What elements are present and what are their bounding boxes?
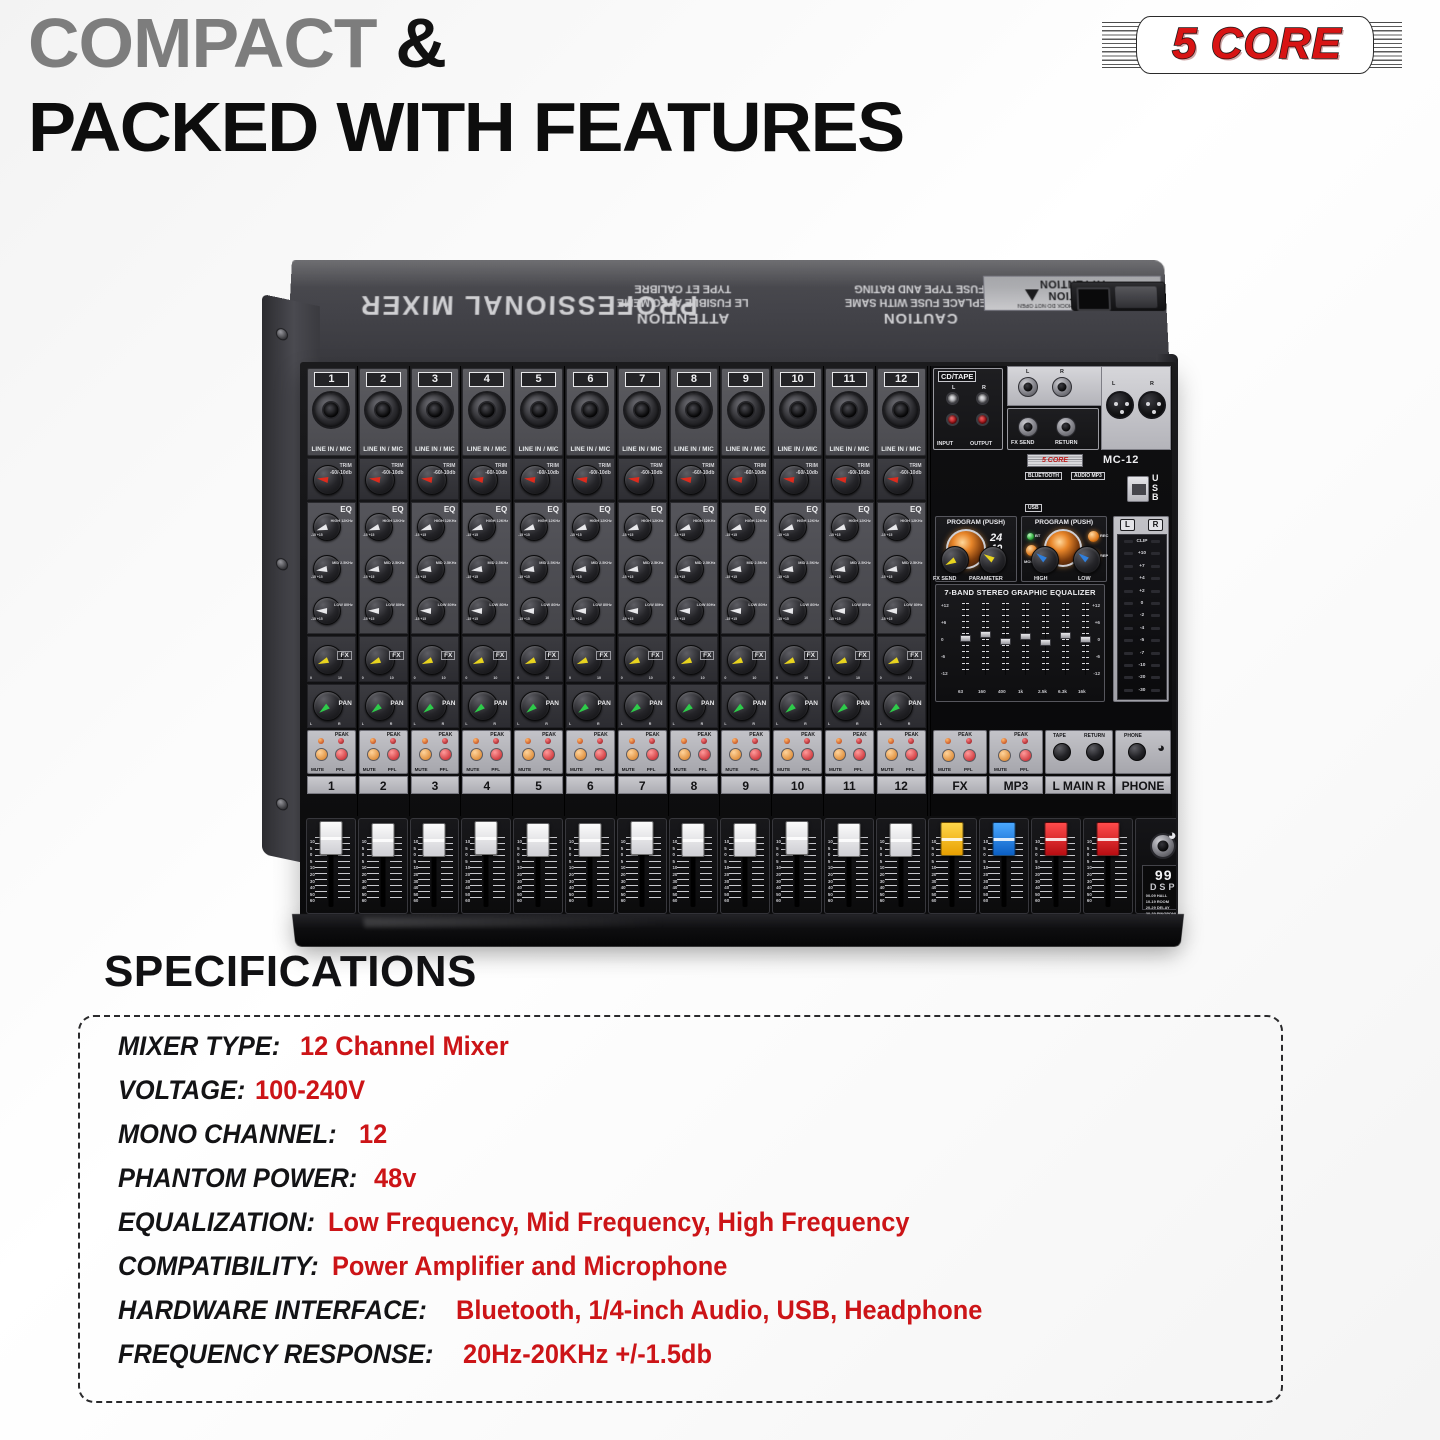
fader-scale-number: 10 [983,865,988,870]
side-screw-icon-2 [276,557,288,572]
cdtape-l-label: L [952,385,955,391]
fader-scale-number: 50 [1087,892,1092,897]
channel-fader-number: 12 [877,776,926,794]
mute-caption: MUTE [829,767,842,772]
geq-frequency-tick: 6.3k [1058,689,1067,694]
eq-range-label: -15 +15 [363,533,375,537]
channel-eq-block: EQ HIGH 12KHz -15 +15 MID 2.5KHz -15 +15… [825,502,874,634]
pfl-caption: PFL [336,767,345,772]
pfl-caption: PFL [595,767,604,772]
fader-cap[interactable] [371,823,394,857]
fx-master-fader[interactable]: 10505102030405060 [928,818,978,914]
channel-fader[interactable]: 10505102030405060 [617,818,667,914]
meter-led-segment [1151,565,1160,568]
eq-band-label: LOW 80Hz [800,603,819,607]
pfl-button[interactable] [594,748,607,761]
side-screw-icon [276,327,288,342]
fader-label-mp3: MP3 [989,776,1043,794]
meter-led-segment [1151,664,1160,667]
low-eq-master-knob[interactable] [1073,546,1101,574]
fx-send-master-knob[interactable] [941,546,969,574]
specification-value: 48v [374,1163,416,1194]
fader-scale-number: 5 [828,846,830,851]
meter-led-segment [1124,614,1133,617]
fader-cap[interactable] [786,821,809,855]
channel-fader-number: 6 [566,776,615,794]
fader-cap[interactable] [630,821,653,855]
fader-scale-number: 10 [413,865,418,870]
signal-led [888,738,894,744]
pan-left-label: L [414,722,416,726]
mixer-control-surface: 1 LINE IN / MIC TRIM-60/-10db EQ HIGH 12… [300,362,1176,922]
channel-fader[interactable]: 10505102030405060 [461,818,511,914]
pfl-button[interactable] [801,748,814,761]
fx-min-label: 0 [724,676,726,680]
headline-ampersand: & [377,4,446,82]
fx-max-label: 10 [804,676,808,680]
fader-scale-number: 5 [569,859,571,864]
channel-eq-block: EQ HIGH 12KHz -15 +15 MID 2.5KHz -15 +15… [566,502,615,634]
channel-fader[interactable]: 10505102030405060 [669,818,719,914]
fader-cap[interactable] [1045,822,1068,856]
channel-strip: 2 LINE IN / MIC TRIM-60/-10db EQ HIGH 12… [358,366,410,816]
fx-knob[interactable] [831,645,861,675]
fader-scale-number: 5 [621,846,623,851]
channel-fader[interactable]: 10505102030405060 [772,818,822,914]
rca-output-right-jack[interactable] [976,413,989,426]
rca-output-left-jack[interactable] [976,392,989,405]
eq-range-label: -15 +15 [363,575,375,579]
fader-scale-number: 5 [1087,846,1089,851]
fader-scale-number: 10 [465,865,470,870]
pan-left-label: L [569,722,571,726]
eq-band-label: MID 2.5KHz [746,561,767,565]
fader-scale-number: 0 [672,852,674,857]
geq-slider-cap[interactable] [1060,632,1071,639]
headline-block: COMPACT & PACKED WITH FEATURES [28,8,1058,165]
meter-led-segment [1151,639,1160,642]
xlr-trs-combo-jack[interactable] [830,391,868,429]
geq-slider-slot[interactable] [1062,603,1069,675]
main-out-trs-right-jack[interactable] [1052,377,1072,397]
fx-peak-label: PEAK [958,732,972,738]
eq-tag: EQ [651,505,663,514]
geq-slider-cap[interactable] [960,635,971,642]
peak-led [338,738,344,744]
fader-scale-number: 0 [776,852,778,857]
fader-scale-number: 0 [413,852,415,857]
geq-slider-cap[interactable] [1080,636,1091,643]
pan-tag: PAN [805,700,818,707]
mp3-master-fader[interactable]: 10505102030405060 [979,818,1029,914]
channel-input-block: 5 LINE IN / MIC [514,368,563,456]
fx-knob[interactable] [779,645,809,675]
fader-scale-number: 50 [621,892,626,897]
fader-scale-number: 30 [362,879,367,884]
fader-cap[interactable] [527,823,550,857]
fader-scale-number: 30 [672,879,677,884]
mute-button[interactable] [315,748,328,761]
header-banner: COMPACT & PACKED WITH FEATURES 5 CORE [0,0,1440,200]
channel-mute-pfl-block: PEAK MUTE PFL [566,730,615,774]
xlr-trs-combo-jack[interactable] [623,391,661,429]
fader-scale-number: 0 [724,852,726,857]
eq-range-label: -15 +15 [881,575,893,579]
fx-knob[interactable] [624,645,654,675]
eq-band-label: LOW 80Hz [489,603,508,607]
mute-button[interactable] [833,748,846,761]
fader-scale-number: 10 [569,839,574,844]
channel-fader[interactable]: 10505102030405060 [876,818,926,914]
fader-cap[interactable] [578,823,601,857]
fader-scale-number: 5 [983,846,985,851]
fx-min-label: 0 [673,676,675,680]
fx-tag: FX [441,651,455,660]
channel-fader-number: 1 [307,776,356,794]
xlr-trs-combo-jack[interactable] [727,391,765,429]
pfl-button[interactable] [542,748,555,761]
channel-trim-block: TRIM-60/-10db [411,458,460,500]
fx-send-label: FX SEND [1011,440,1034,446]
pfl-caption: PFL [543,767,552,772]
channel-fader[interactable]: 10505102030405060 [824,818,874,914]
channel-pan-block: PAN L R [566,684,615,728]
high-eq-master-knob[interactable] [1031,546,1059,574]
fader-cap[interactable] [1096,822,1119,856]
fader-scale-number: 20 [621,872,626,877]
fader-scale-number: 20 [465,872,470,877]
mute-button[interactable] [522,748,535,761]
trim-label: TRIM-60/-10db [330,463,352,476]
fader-scale-number: 60 [517,898,522,903]
channel-eq-block: EQ HIGH 12KHz -15 +15 MID 2.5KHz -15 +15… [877,502,926,634]
usb-port[interactable] [1127,476,1149,502]
eq-band-label: HIGH 12KHz [486,519,508,523]
fx-knob[interactable] [468,645,498,675]
eq-band-label: LOW 80Hz [904,603,923,607]
fader-scale-number: 5 [569,846,571,851]
fader-scale-number: 60 [1087,898,1092,903]
fx-max-label: 10 [856,676,860,680]
channel-trim-block: TRIM-60/-10db [462,458,511,500]
mute-caption: MUTE [415,767,428,772]
fader-cap[interactable] [889,823,912,857]
eq-range-label: -15 +15 [311,533,323,537]
channel-fader[interactable]: 10505102030405060 [306,818,356,914]
geq-axis-tick: 0 [941,637,944,642]
fader-cap[interactable] [941,822,964,856]
eq-tag: EQ [392,505,404,514]
return-level-knob[interactable] [1086,743,1104,761]
specification-label: EQUALIZATION: [118,1207,315,1238]
geq-slider-cap[interactable] [1040,639,1051,646]
cdtape-input-label: INPUT [937,441,953,447]
fader-scale-number: 50 [672,892,677,897]
audio-mp3-tag: AUDIO MP3 [1071,472,1105,480]
fx-knob[interactable] [676,645,706,675]
fx-mute-button[interactable] [942,749,955,762]
pfl-button[interactable] [387,748,400,761]
xlr-trs-combo-jack[interactable] [779,391,817,429]
channel-number: 4 [469,372,504,387]
signal-led [629,738,635,744]
power-inlet-switch[interactable] [1070,282,1166,311]
channel-number: 5 [521,372,556,387]
mute-caption: MUTE [466,767,479,772]
geq-axis-tick-right: -6 [1096,654,1100,659]
fx-knob[interactable] [520,645,550,675]
fader-scale-number: 30 [724,879,729,884]
fader-scale-number: 5 [724,859,726,864]
fader-scale-number: 5 [310,859,312,864]
fx-max-label: 10 [597,676,601,680]
pfl-button[interactable] [749,748,762,761]
fx-knob[interactable] [417,645,447,675]
fader-scale-number: 5 [776,846,778,851]
program-push-label-right: PROGRAM (PUSH) [1022,519,1106,526]
xlr-output-left[interactable] [1106,391,1134,419]
pfl-button[interactable] [905,748,918,761]
geq-slider-slot[interactable] [982,603,989,675]
specification-label: HARDWARE INTERFACE: [118,1295,427,1326]
specification-row: FREQUENCY RESPONSE: 20Hz-20KHz +/-1.5db [118,1339,1271,1383]
level-meter-panel: L R CLIP+10+7+4+20-2-4-5-7-10-20-30 [1113,516,1169,702]
eq-range-label: -15 +15 [777,575,789,579]
channel-pan-block: PAN L R [462,684,511,728]
fx-knob[interactable] [572,645,602,675]
eq-tag: EQ [340,505,352,514]
peak-led [804,738,810,744]
fader-scale-number: 10 [880,839,885,844]
xlr-trs-combo-jack[interactable] [312,391,350,429]
fader-scale-number: 60 [983,898,988,903]
pfl-button[interactable] [439,748,452,761]
mute-button[interactable] [419,748,432,761]
fader-scale-number: 5 [517,859,519,864]
trim-label: TRIM-60/-10db [433,463,455,476]
mute-caption: MUTE [622,767,635,772]
geq-slider-cap[interactable] [1000,638,1011,645]
fader-scale-number: 5 [621,859,623,864]
pan-right-label: R [856,722,859,726]
eq-band-label: LOW 80Hz [697,603,716,607]
fader-scale-number: 30 [931,879,936,884]
channel-number: 11 [832,372,867,387]
signal-led [473,738,479,744]
fx-send-jack[interactable] [1018,417,1038,437]
fx-knob[interactable] [365,645,395,675]
channel-fader[interactable]: 10505102030405060 [513,818,563,914]
peak-label: PEAK [490,732,504,738]
channel-pan-block: PAN L R [411,684,460,728]
dsp-word: DSP [1143,882,1176,892]
eq-band-label: MID 2.5KHz [850,561,871,565]
eq-band-label: LOW 80Hz [334,603,353,607]
pfl-button[interactable] [698,748,711,761]
fx-tag: FX [389,651,403,660]
fx-send-return-panel: FX SEND RETURN [1007,408,1099,450]
headline-line-1: COMPACT & [28,8,1079,79]
meter-led-segment [1151,652,1160,655]
fader-scale-number: 10 [517,839,522,844]
eq-tag: EQ [444,505,456,514]
fx-tag: FX [752,651,766,660]
master-bottom-row: PEAK MUTE PFL PEAK MUTE PFL [933,730,1171,774]
mute-button[interactable] [781,748,794,761]
fader-cap[interactable] [837,823,860,857]
fx-pfl-button[interactable] [963,749,976,762]
fader-scale-number: 50 [931,892,936,897]
xlr-output-right[interactable] [1138,391,1166,419]
fader-scale-number: 10 [724,839,729,844]
eq-band-label: LOW 80Hz [386,603,405,607]
channel-pan-block: PAN L R [773,684,822,728]
channel-pan-block: PAN L R [514,684,563,728]
channel-fader[interactable]: 10505102030405060 [410,818,460,914]
pfl-button[interactable] [646,748,659,761]
fader-cap[interactable] [734,823,757,857]
rca-input-right-jack[interactable] [946,413,959,426]
main-right-fader[interactable]: 10505102030405060 [1083,818,1133,914]
mute-button[interactable] [470,748,483,761]
eq-tag: EQ [806,505,818,514]
meter-led-segment [1124,540,1133,543]
fader-scale-number: 0 [569,852,571,857]
fader-scale-number: 10 [828,865,833,870]
fx-mute-caption: MUTE [938,767,951,772]
fx-knob[interactable] [883,645,913,675]
fader-cap[interactable] [423,823,446,857]
fader-scale-number: 20 [672,872,677,877]
pfl-button[interactable] [853,748,866,761]
main-out-trs-left-jack[interactable] [1018,377,1038,397]
fx-tag: FX [907,651,921,660]
channel-input-block: 7 LINE IN / MIC [618,368,667,456]
eq-range-label: -15 +15 [622,575,634,579]
mp3-pfl-button[interactable] [1019,749,1032,762]
fx-knob[interactable] [313,645,343,675]
fader-bay[interactable]: 10505102030405060 10505102030405060 1050… [306,818,1172,914]
channel-fader[interactable]: 10505102030405060 [720,818,770,914]
mute-button[interactable] [885,748,898,761]
tape-level-knob[interactable] [1053,743,1071,761]
fader-scale-number: 60 [931,898,936,903]
eq-range-label: -15 +15 [518,533,530,537]
fader-scale-number: 30 [776,879,781,884]
mute-button[interactable] [574,748,587,761]
geq-slider-cap[interactable] [1020,633,1031,640]
rec-button[interactable] [1088,531,1099,542]
fx-knob[interactable] [727,645,757,675]
cdtape-output-label: OUTPUT [970,441,992,447]
xlr-trs-combo-jack[interactable] [675,391,713,429]
channel-trim-block: TRIM-60/-10db [670,458,719,500]
pan-tag: PAN [390,700,403,707]
channel-input-block: 2 LINE IN / MIC [359,368,408,456]
fader-scale-number: 40 [983,885,988,890]
main-left-fader[interactable]: 10505102030405060 [1031,818,1081,914]
pan-right-label: R [338,722,341,726]
channel-input-block: 12 LINE IN / MIC [877,368,926,456]
parameter-knob[interactable] [979,546,1007,574]
trim-label: TRIM-60/-10db [796,463,818,476]
mute-button[interactable] [729,748,742,761]
fader-cap[interactable] [319,821,342,855]
fader-scale-number: 10 [413,839,418,844]
eq-range-label: -15 +15 [415,617,427,621]
xlr-trs-combo-jack[interactable] [520,391,558,429]
fader-scale-number: 0 [621,852,623,857]
pfl-button[interactable] [490,748,503,761]
rca-input-left-jack[interactable] [946,392,959,405]
pan-left-label: L [310,722,312,726]
fader-scale-number: 20 [517,872,522,877]
line-in-mic-label: LINE IN / MIC [619,446,666,453]
channel-strip: 11 LINE IN / MIC TRIM-60/-10db EQ HIGH 1… [824,366,876,816]
phone-level-knob[interactable] [1128,743,1146,761]
mute-caption: MUTE [363,767,376,772]
fader-cap[interactable] [475,821,498,855]
main-out-r-label: R [1150,381,1154,387]
channel-trim-block: TRIM-60/-10db [825,458,874,500]
fx-return-jack[interactable] [1056,417,1076,437]
meter-left-label: L [1120,519,1135,531]
fader-scale-number: 0 [362,852,364,857]
model-number: MC-12 [1103,454,1139,466]
mute-button[interactable] [626,748,639,761]
fader-scale-number: 10 [776,865,781,870]
xlr-trs-combo-jack[interactable] [416,391,454,429]
specification-label: VOLTAGE: [118,1075,245,1106]
fader-scale-number: 5 [724,846,726,851]
mute-button[interactable] [367,748,380,761]
eq-tag: EQ [496,505,508,514]
geq-slider-cap[interactable] [980,631,991,638]
specifications-box: MIXER TYPE: 12 Channel Mixer VOLTAGE: 10… [78,1015,1283,1403]
channel-mute-pfl-block: PEAK MUTE PFL [618,730,667,774]
fader-scale-number: 30 [310,879,315,884]
pan-tag: PAN [442,700,455,707]
xlr-trs-combo-jack[interactable] [882,391,920,429]
mute-button[interactable] [678,748,691,761]
fader-cap[interactable] [682,823,705,857]
pfl-button[interactable] [335,748,348,761]
eq-range-label: -15 +15 [725,575,737,579]
specification-row: MONO CHANNEL: 12 [118,1119,1271,1163]
fader-scale-number: 10 [1035,865,1040,870]
mixer-rear-panel: PROFESSIONAL MIXER ATTENTION LE FUSIBLE … [286,260,1170,376]
xlr-trs-combo-jack[interactable] [364,391,402,429]
fader-scale-number: 50 [983,892,988,897]
xlr-trs-combo-jack[interactable] [468,391,506,429]
pan-right-label: R [649,722,652,726]
mp3-mute-button[interactable] [998,749,1011,762]
geq-axis-tick-right: 0 [1097,637,1100,642]
channel-fader[interactable]: 10505102030405060 [565,818,615,914]
pan-tag: PAN [701,700,714,707]
fx-min-label: 0 [414,676,416,680]
fader-cap[interactable] [993,822,1016,856]
meter-led-segment [1124,602,1133,605]
channel-number: 12 [884,372,919,387]
eq-band-label: LOW 80Hz [541,603,560,607]
pan-tag: PAN [598,700,611,707]
xlr-trs-combo-jack[interactable] [571,391,609,429]
channel-fader[interactable]: 10505102030405060 [358,818,408,914]
fader-scale-number: 60 [310,898,315,903]
specifications-title: SPECIFICATIONS [104,947,477,997]
channel-fx-block: FX 0 10 [877,636,926,682]
